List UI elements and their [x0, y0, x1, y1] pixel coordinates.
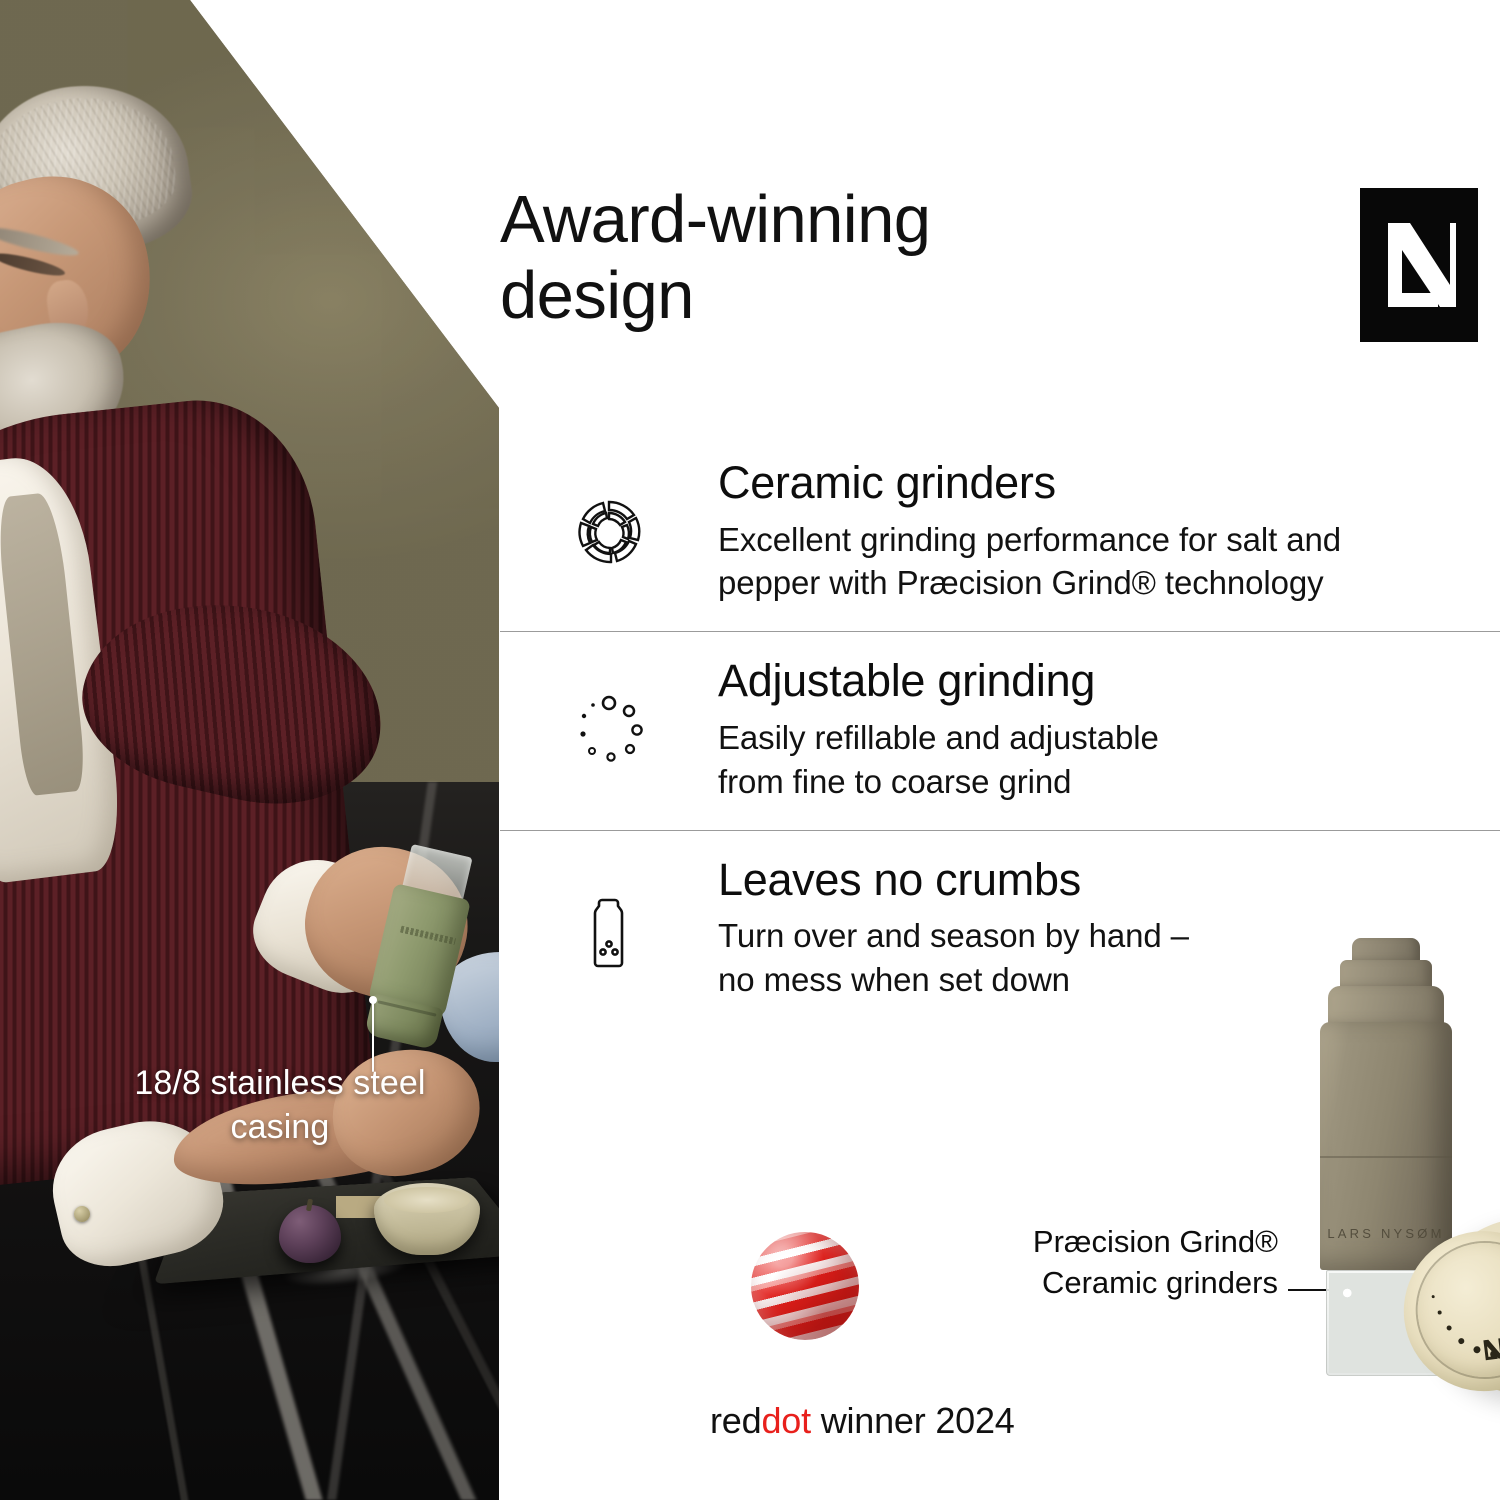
fig-fruit [279, 1205, 341, 1263]
photo-callout-label: 18/8 stainless steel casing [100, 1062, 460, 1149]
feature-title: Leaves no crumbs [718, 855, 1480, 905]
product-photo: LARS NYSØM [1260, 920, 1500, 1500]
feature-ceramic-grinders: Ceramic grinders Excellent grinding perf… [500, 434, 1500, 631]
feature-adjustable-grinding: Adjustable grinding Easily refillable an… [500, 632, 1500, 829]
grinder-bottle-icon [573, 893, 645, 973]
ceramic-grinder-icon [573, 496, 645, 568]
person-cufflink [74, 1206, 90, 1222]
feature-icon-slot [500, 855, 718, 973]
reddot-sphere-logo [751, 1232, 859, 1340]
reddot-award-badge: reddot winner 2024 [710, 1232, 900, 1442]
feature-title: Ceramic grinders [718, 458, 1480, 508]
feature-text: Adjustable grinding Easily refillable an… [718, 656, 1500, 803]
reddot-word-red: red [710, 1400, 761, 1441]
feature-text: Ceramic grinders Excellent grinding perf… [718, 458, 1500, 605]
content-panel: Award-winning design [500, 0, 1500, 1500]
reddot-award-caption: reddot winner 2024 [710, 1400, 900, 1442]
photo-scene: 18/8 stainless steel casing [0, 0, 500, 1500]
feature-icon-slot [500, 458, 718, 568]
feature-description: Easily refillable and adjustable from fi… [718, 716, 1480, 804]
grind-coarseness-dots-icon [573, 694, 645, 766]
feature-description: Excellent grinding performance for salt … [718, 518, 1480, 606]
feature-icon-slot [500, 656, 718, 766]
page-title: Award-winning design [500, 182, 1140, 335]
brand-logo-lars-nysom [1360, 188, 1478, 342]
grinder-brand-mark [400, 926, 456, 945]
grinder-body-seam [1320, 1156, 1452, 1158]
lifestyle-photo: 18/8 stainless steel casing [0, 0, 500, 1500]
ln-monogram-icon [1382, 219, 1456, 311]
grind-setting-indicator-dots [1427, 1281, 1500, 1376]
grinder-cream-lying [1367, 1199, 1500, 1426]
product-callout-label: Præcision Grind® Ceramic grinders [968, 1222, 1278, 1304]
feature-title: Adjustable grinding [718, 656, 1480, 706]
reddot-word-dot: dot [761, 1400, 810, 1441]
ln-monogram-icon-dial [1481, 1337, 1500, 1361]
reddot-word-rest: winner 2024 [811, 1400, 1015, 1441]
person-chef [0, 58, 386, 1118]
